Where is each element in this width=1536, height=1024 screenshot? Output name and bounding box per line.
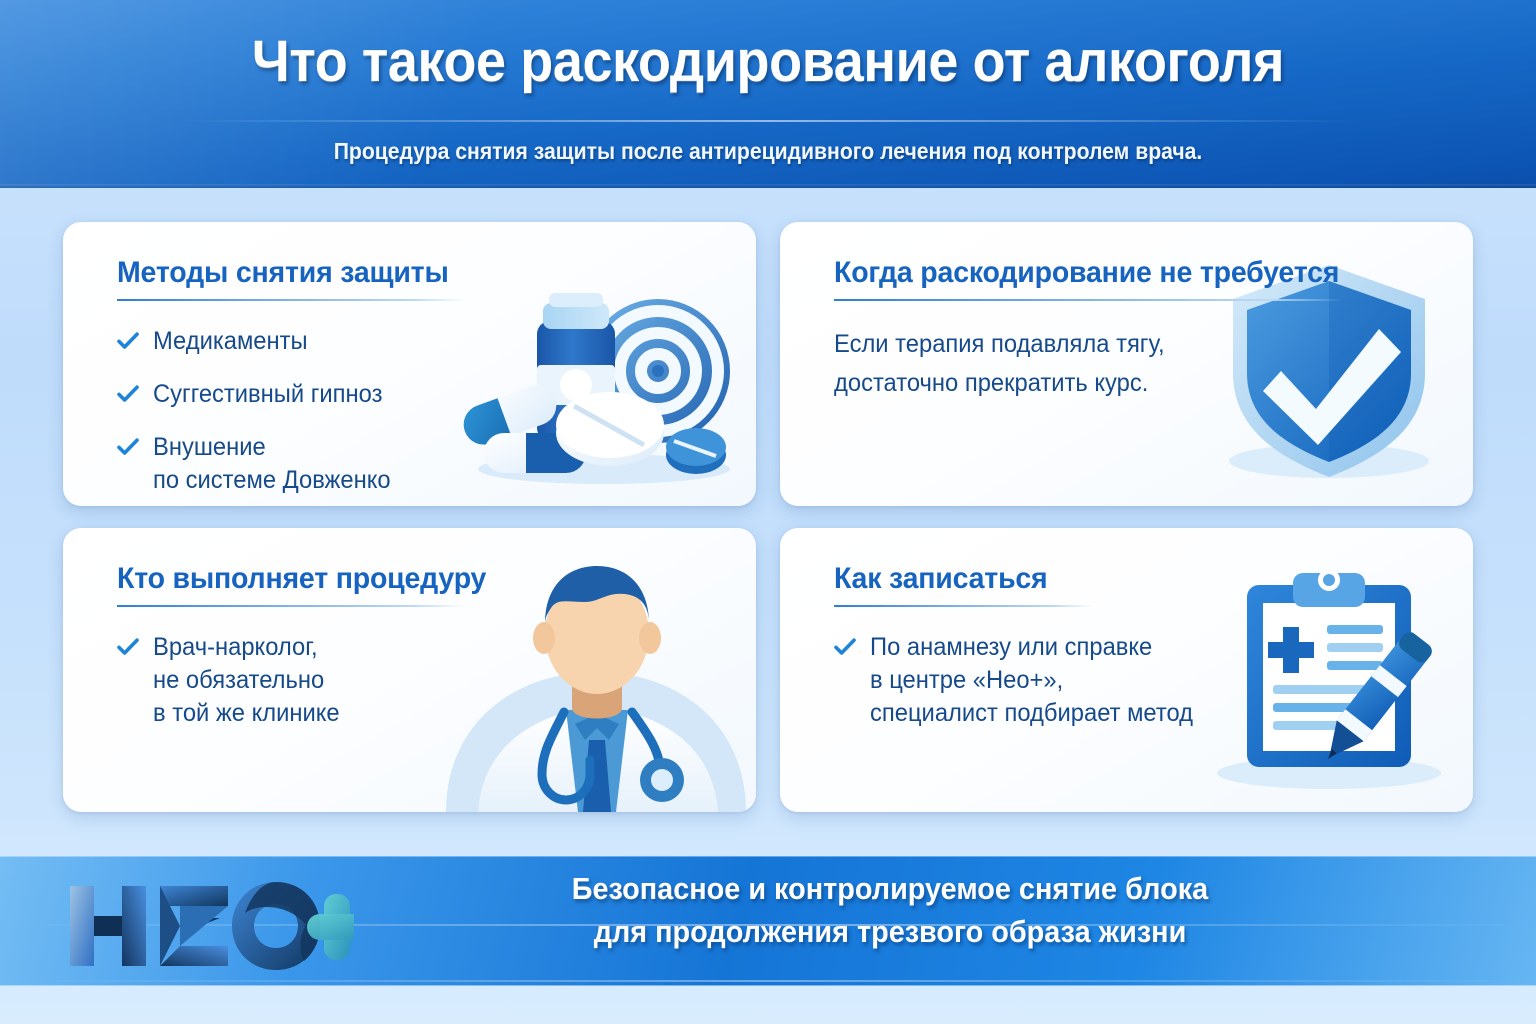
card-title-underline (117, 605, 465, 607)
check-icon (117, 438, 139, 461)
card-title-underline (834, 605, 1092, 607)
footer-tagline: Безопасное и контролируемое снятие блока… (360, 868, 1420, 954)
card-body: Если терапия подавляла тягу, достаточно … (834, 325, 1473, 403)
card-title: Как записаться (834, 562, 1441, 596)
page-subtitle: Процедура снятия защиты после антирециди… (61, 138, 1474, 165)
footer-tagline-line2: для продолжения трезвого образа жизни (397, 911, 1383, 954)
list-item-label: По анамнезу или справке в центре «Нео+»,… (870, 631, 1193, 730)
list-item: Суггестивный гипноз (117, 378, 756, 411)
footer-tagline-line1: Безопасное и контролируемое снятие блока (397, 868, 1383, 911)
list-item: Внушение по системе Довженко (117, 431, 756, 497)
footer-sheen-lower (0, 980, 1536, 982)
list-item: Медикаменты (117, 325, 756, 358)
header-banner: Что такое раскодирование от алкоголя Про… (0, 0, 1536, 188)
card-how-to-book: Как записаться По анамнезу или справке в… (780, 528, 1473, 812)
card-title: Кто выполняет процедуру (117, 562, 724, 596)
list-item-label: Внушение по системе Довженко (153, 431, 391, 497)
card-title: Методы снятия защиты (117, 256, 724, 290)
list-item: Врач-нарколог, не обязательно в той же к… (117, 631, 756, 730)
card-body: Медикаменты Суггестивный гипноз Внушение… (117, 325, 756, 497)
list-item-label: Медикаменты (153, 325, 308, 358)
footer: Безопасное и контролируемое снятие блока… (0, 820, 1536, 1024)
header-divider (178, 120, 1358, 122)
check-icon (834, 638, 856, 661)
card-title-underline (834, 299, 1342, 301)
infographic-poster: Что такое раскодирование от алкоголя Про… (0, 0, 1536, 1024)
card-who-performs: Кто выполняет процедуру Врач-нарколог, н… (63, 528, 756, 812)
card-methods: Методы снятия защиты Медикаменты Суггест… (63, 222, 756, 506)
card-title: Когда раскодирование не требуется (834, 256, 1441, 290)
card-grid: Методы снятия защиты Медикаменты Суггест… (63, 222, 1473, 812)
list-item-label: Суггестивный гипноз (153, 378, 382, 411)
card-title-underline (117, 299, 465, 301)
list-item: По анамнезу или справке в центре «Нео+»,… (834, 631, 1473, 730)
check-icon (117, 638, 139, 661)
card-when-not-needed: Когда раскодирование не требуется Если т… (780, 222, 1473, 506)
page-title: Что такое раскодирование от алкоголя (54, 28, 1482, 95)
card-body: Врач-нарколог, не обязательно в той же к… (117, 631, 756, 730)
card-body: По анамнезу или справке в центре «Нео+»,… (834, 631, 1473, 730)
list-item-label: Врач-нарколог, не обязательно в той же к… (153, 631, 340, 730)
neo-plus-logo (64, 878, 354, 974)
check-icon (117, 332, 139, 355)
check-icon (117, 385, 139, 408)
card-paragraph: Если терапия подавляла тягу, достаточно … (834, 325, 1441, 403)
